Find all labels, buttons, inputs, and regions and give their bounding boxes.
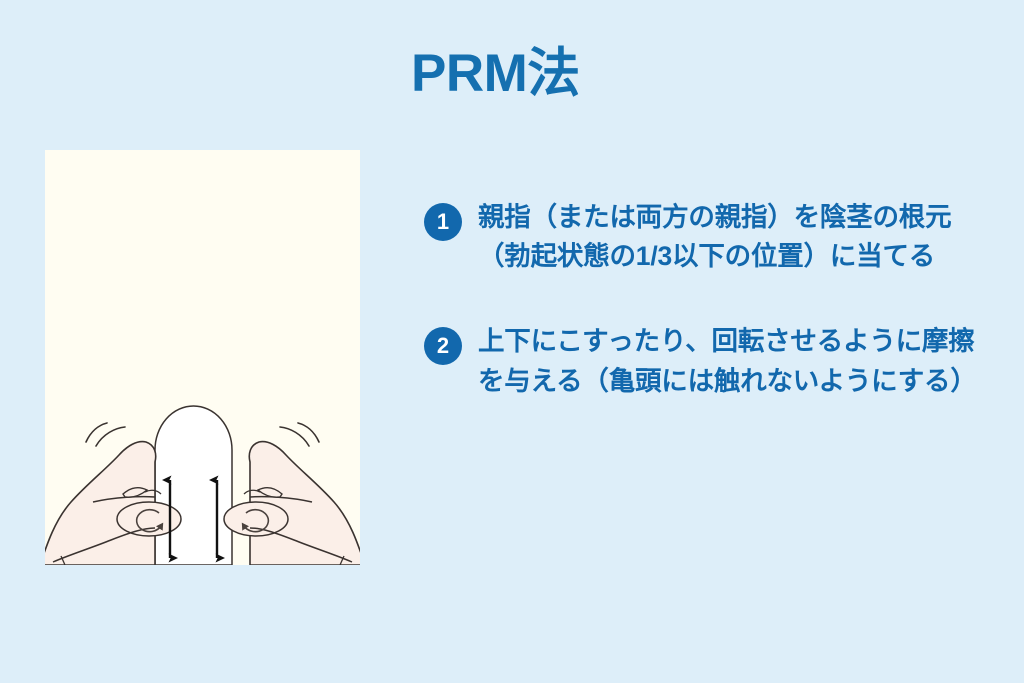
step-number-badge: 1 <box>424 203 462 241</box>
step-number-badge: 2 <box>424 327 462 365</box>
technique-illustration <box>45 150 360 565</box>
list-item: 2 上下にこすったり、回転させるように摩擦を与える（亀頭には触れないようにする） <box>424 322 984 400</box>
list-item: 1 親指（または両方の親指）を陰茎の根元（勃起状態の1/3以下の位置）に当てる <box>424 198 984 276</box>
step-text: 親指（または両方の親指）を陰茎の根元（勃起状態の1/3以下の位置）に当てる <box>478 198 978 276</box>
step-text: 上下にこすったり、回転させるように摩擦を与える（亀頭には触れないようにする） <box>478 322 978 400</box>
page-title: PRM法 <box>411 44 580 105</box>
steps-list: 1 親指（または両方の親指）を陰茎の根元（勃起状態の1/3以下の位置）に当てる … <box>424 198 984 447</box>
shaft-shape <box>155 406 232 565</box>
slide-root: PRM法 <box>0 0 1024 683</box>
illustration-panel <box>45 150 360 565</box>
